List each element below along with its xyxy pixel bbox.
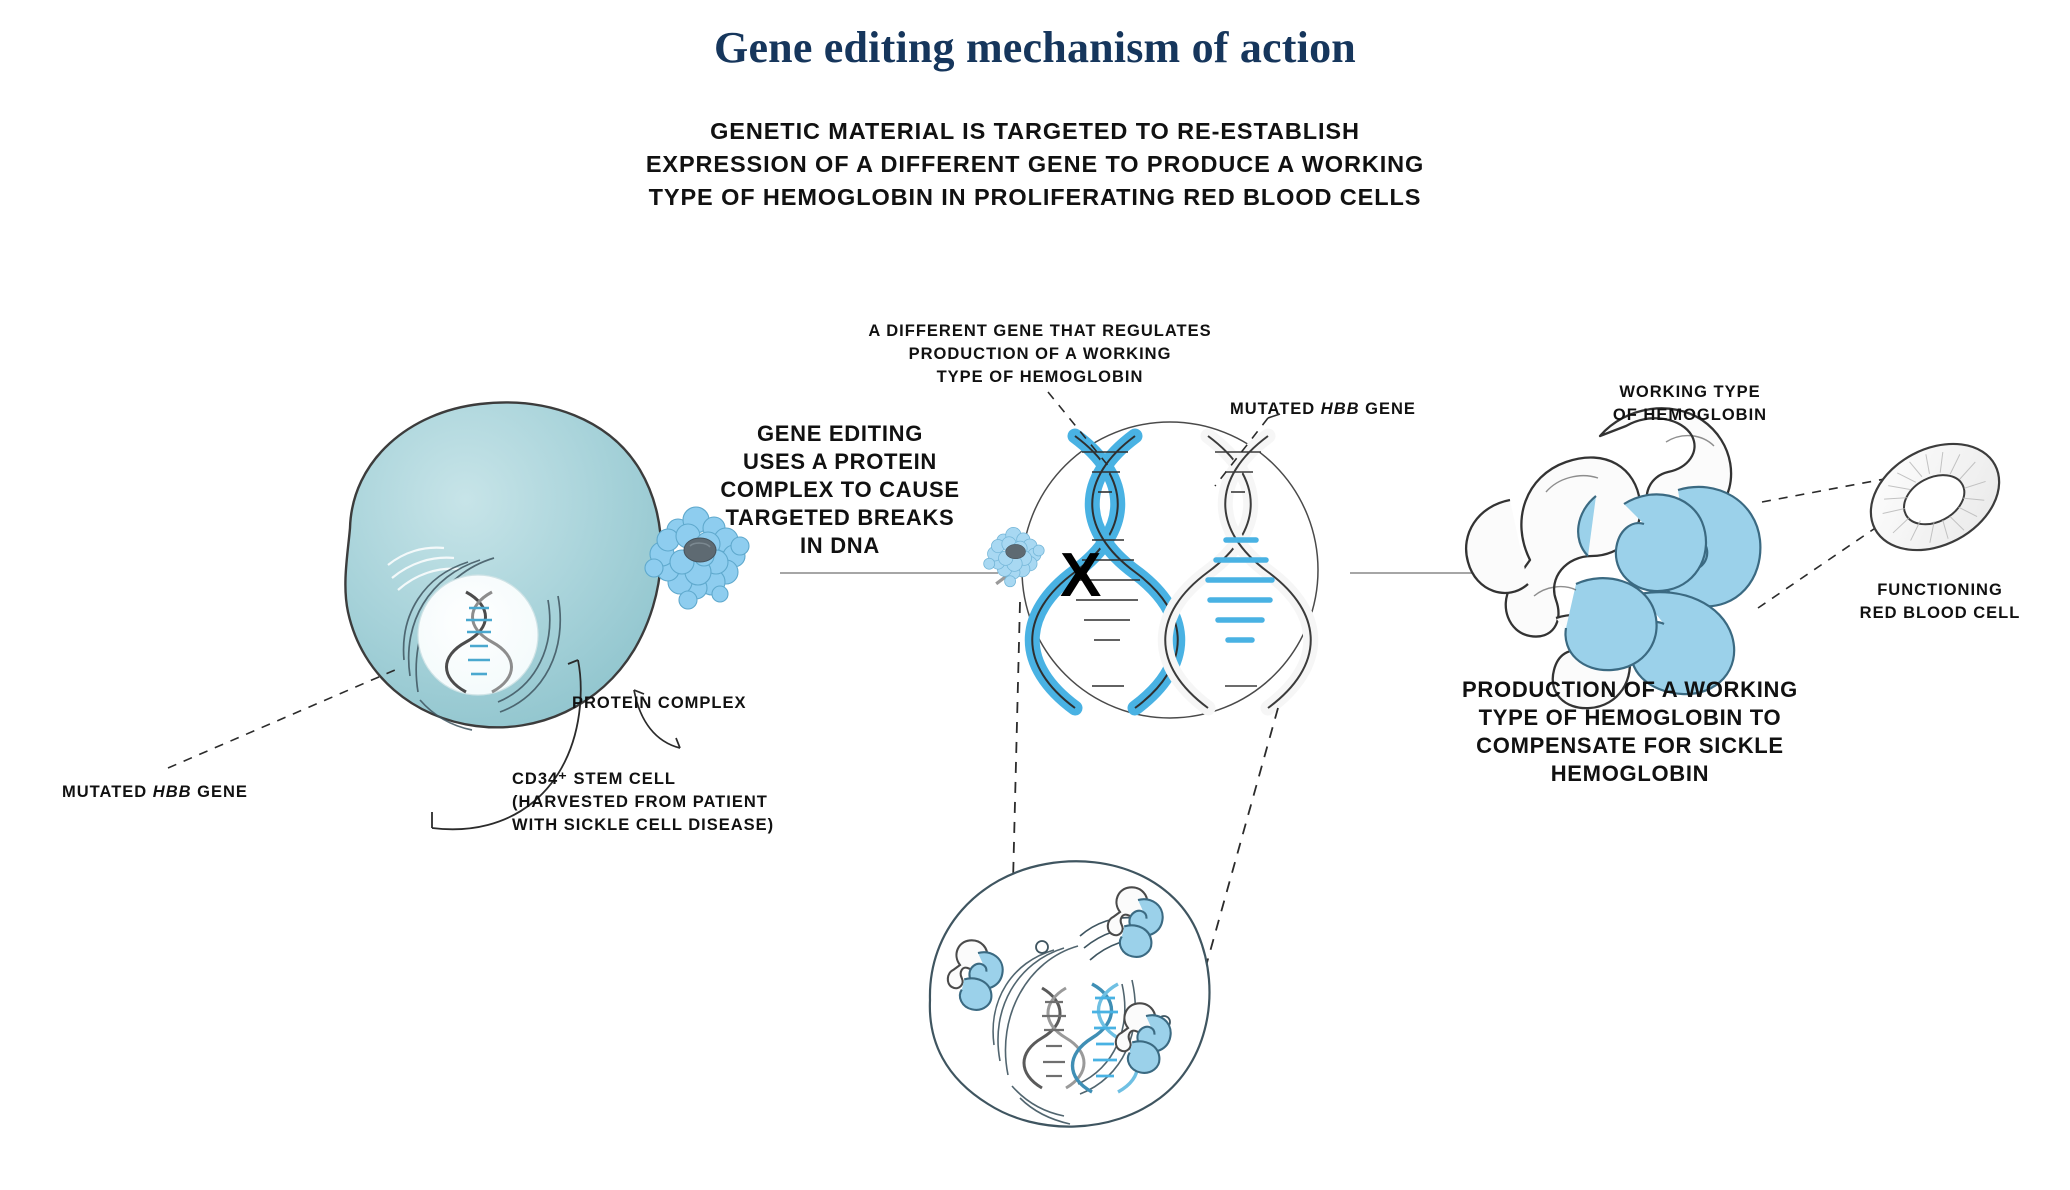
label-line: GENE EDITING <box>700 420 980 448</box>
label-gene-editing-description: GENE EDITING USES A PROTEIN COMPLEX TO C… <box>700 420 980 560</box>
gene-symbol: HBB <box>1321 400 1360 418</box>
label-line: TARGETED BREAKS <box>700 504 980 532</box>
label-line: WORKING TYPE <box>1570 381 1810 404</box>
illustration-svg <box>0 0 2070 1190</box>
label-line: FUNCTIONING <box>1820 579 2060 602</box>
label-different-gene: A DIFFERENT GENE THAT REGULATES PRODUCTI… <box>830 320 1250 389</box>
label-functioning-red-blood-cell: FUNCTIONING RED BLOOD CELL <box>1820 579 2060 625</box>
label-line: PRODUCTION OF A WORKING <box>1440 676 1820 704</box>
label-line: TYPE OF HEMOGLOBIN TO <box>1440 704 1820 732</box>
label-line: RED BLOOD CELL <box>1820 602 2060 625</box>
label-line: A DIFFERENT GENE THAT REGULATES <box>830 320 1250 343</box>
label-mutated-hbb-gene-right: MUTATED HBB GENE <box>1230 398 1490 421</box>
label-text: MUTATED <box>62 783 153 801</box>
label-protein-complex: PROTEIN COMPLEX <box>572 692 812 715</box>
label-line: IN DNA <box>700 532 980 560</box>
cd34-stem-cell-illustration <box>168 402 661 829</box>
label-line: WITH SICKLE CELL DISEASE) <box>512 814 812 837</box>
diagram-canvas: Gene editing mechanism of action GENETIC… <box>0 0 2070 1190</box>
label-cd34-stem-cell: CD34⁺ STEM CELL (HARVESTED FROM PATIENT … <box>512 768 812 837</box>
leader-line-hemoglobin-top <box>1762 478 1890 502</box>
label-line: USES A PROTEIN <box>700 448 980 476</box>
label-line: TYPE OF HEMOGLOBIN <box>830 366 1250 389</box>
dna-break-marker: X <box>1060 545 1101 607</box>
dna-helix-mutated-hbb <box>1165 436 1311 708</box>
label-line: COMPENSATE FOR SICKLE <box>1440 732 1820 760</box>
label-line: COMPLEX TO CAUSE <box>700 476 980 504</box>
label-line: CD34⁺ STEM CELL <box>512 768 812 791</box>
label-mutated-hbb-gene-left: MUTATED HBB GENE <box>62 781 322 804</box>
functioning-red-blood-cell-illustration <box>1852 423 2017 572</box>
gene-symbol: HBB <box>153 783 192 801</box>
label-production-summary: PRODUCTION OF A WORKING TYPE OF HEMOGLOB… <box>1440 676 1820 788</box>
leader-line-circle-to-cell-right <box>1196 708 1278 1002</box>
dna-editing-circle <box>984 392 1318 718</box>
edited-cell-illustration <box>930 861 1210 1126</box>
label-working-hemoglobin: WORKING TYPE OF HEMOGLOBIN <box>1570 381 1810 427</box>
label-line: (HARVESTED FROM PATIENT <box>512 791 812 814</box>
label-text: GENE <box>192 783 248 801</box>
label-line: OF HEMOGLOBIN <box>1570 404 1810 427</box>
label-text: MUTATED <box>1230 400 1321 418</box>
label-line: PRODUCTION OF A WORKING <box>830 343 1250 366</box>
leader-line-mutated-hbb-left <box>168 670 395 768</box>
label-line: HEMOGLOBIN <box>1440 760 1820 788</box>
working-hemoglobin-illustration <box>1466 408 1760 708</box>
label-text: GENE <box>1360 400 1416 418</box>
